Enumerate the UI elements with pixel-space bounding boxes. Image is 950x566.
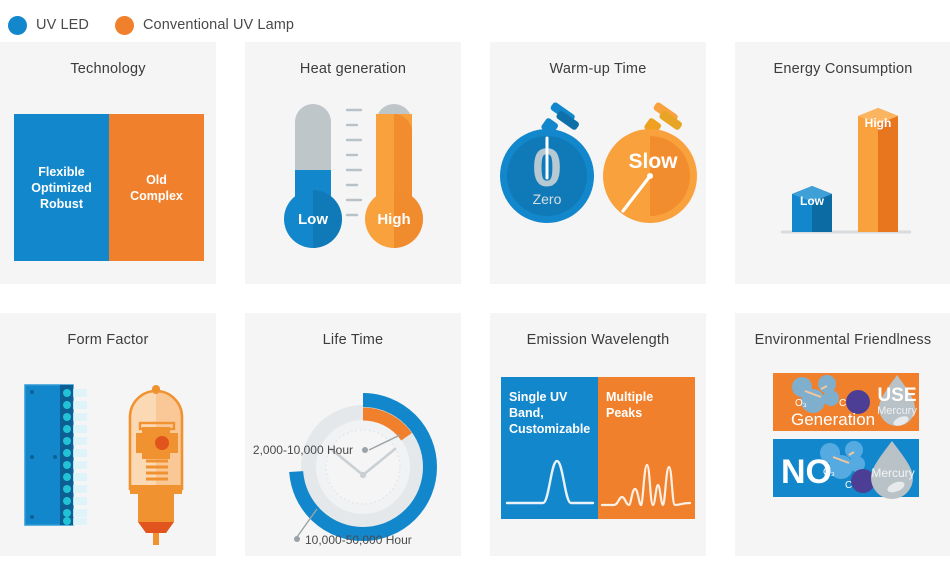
eco-banner-lamp: O₃ C Generation USE Mercury (773, 373, 919, 431)
card-title: Emission Wavelength (490, 313, 706, 348)
eco-led-mercury: Mercury (871, 466, 914, 480)
eco-lamp-carbon: C (839, 398, 846, 409)
stopwatch-led-label: Zero (533, 191, 562, 207)
card-warm-up-time: Warm-up Time 0 Zero (490, 42, 706, 284)
bar-led: Low (792, 186, 832, 232)
life-time-lamp-label: 2,000-10,000 Hour (253, 443, 353, 457)
card-technology: Technology Flexible Optimized Robust Old… (0, 42, 216, 284)
card-body: Single UV Band, Customizable Multiple Pe… (490, 357, 706, 556)
legend-label: Conventional UV Lamp (143, 17, 294, 33)
thermometer-led-label: Low (298, 211, 328, 228)
circle-icon (115, 16, 134, 35)
legend-item-uv-led: UV LED (8, 16, 89, 35)
life-time-led-label: 10,000-50,000 Hour (305, 533, 412, 547)
eco-banners-icon: O₃ C Generation USE Mercury (735, 357, 950, 555)
eco-lamp-use: USE (877, 385, 916, 406)
single-peak-spectrum-icon (501, 445, 598, 515)
card-title: Warm-up Time (490, 42, 706, 77)
technology-panels: Flexible Optimized Robust Old Complex (14, 114, 204, 261)
card-body: Low High (735, 86, 950, 284)
card-body: O₃ C Generation USE Mercury (735, 357, 950, 556)
card-heat-generation: Heat generation Low (245, 42, 461, 284)
pane-line: Optimized (31, 180, 91, 196)
life-time-donut-icon: 2,000-10,000 Hour 10,000-50,000 Hour (245, 357, 461, 555)
card-environmental-friendliness: Environmental Friendlness O₃ C Gene (735, 313, 950, 556)
pane-line: Single UV Band, (509, 389, 590, 421)
form-factor-icon (0, 357, 216, 555)
bar-lamp: High (858, 108, 898, 232)
eco-led-ozone: O₃ (823, 467, 835, 478)
multi-peak-spectrum-icon (598, 445, 695, 515)
card-title: Life Time (245, 313, 461, 348)
circle-icon (8, 16, 27, 35)
emission-lamp-pane: Multiple Peaks (598, 377, 695, 519)
card-emission-wavelength: Emission Wavelength Single UV Band, Cust… (490, 313, 706, 556)
stopwatch-lamp-icon: Slow (603, 101, 697, 223)
card-energy-consumption: Energy Consumption Low High (735, 42, 950, 284)
card-body: 0 Zero Slow (490, 86, 706, 284)
comparison-grid: Technology Flexible Optimized Robust Old… (0, 42, 950, 556)
card-title: Energy Consumption (735, 42, 950, 77)
led-module-icon (25, 385, 87, 525)
card-title: Form Factor (0, 313, 216, 348)
pane-line: Robust (40, 196, 83, 212)
pane-line: Flexible (38, 164, 85, 180)
eco-lamp-ozone: O₃ (795, 398, 807, 409)
thermometer-pair-icon: Low (245, 86, 461, 284)
pane-line: Multiple Peaks (606, 389, 687, 421)
pane-line: Complex (130, 188, 183, 204)
card-life-time: Life Time 2,000-10,000 Hour (245, 313, 461, 556)
stopwatch-pair-icon: 0 Zero Slow (490, 86, 706, 284)
card-title: Technology (0, 42, 216, 77)
emission-panels: Single UV Band, Customizable Multiple Pe… (501, 377, 695, 519)
card-body: Low (245, 86, 461, 284)
legend: UV LED Conventional UV Lamp (0, 0, 950, 42)
eco-lamp-mercury: Mercury (877, 405, 917, 417)
bar-led-label: Low (800, 194, 825, 208)
pane-line: Old (146, 172, 167, 188)
uv-lamp-bulb-icon (130, 385, 182, 545)
card-body (0, 357, 216, 556)
thermometer-lamp-label: High (377, 211, 410, 228)
technology-led-pane: Flexible Optimized Robust (14, 114, 109, 261)
card-form-factor: Form Factor (0, 313, 216, 556)
legend-item-conventional-uv-lamp: Conventional UV Lamp (115, 16, 294, 35)
stopwatch-lamp-label: Slow (628, 150, 678, 173)
legend-label: UV LED (36, 17, 89, 33)
stopwatch-led-icon: 0 Zero (500, 101, 594, 223)
card-body: 2,000-10,000 Hour 10,000-50,000 Hour (245, 357, 461, 556)
technology-lamp-pane: Old Complex (109, 114, 204, 261)
eco-banner-led: NO O₃ C Mercury (773, 439, 919, 499)
pane-line: Customizable (509, 421, 590, 437)
card-title: Environmental Friendlness (735, 313, 950, 348)
card-title: Heat generation (245, 42, 461, 77)
bar-chart-3d-icon: Low High (735, 86, 950, 284)
card-body: Flexible Optimized Robust Old Complex (0, 86, 216, 284)
emission-led-pane: Single UV Band, Customizable (501, 377, 598, 519)
eco-lamp-generation: Generation (791, 410, 875, 429)
bar-lamp-label: High (865, 116, 892, 130)
